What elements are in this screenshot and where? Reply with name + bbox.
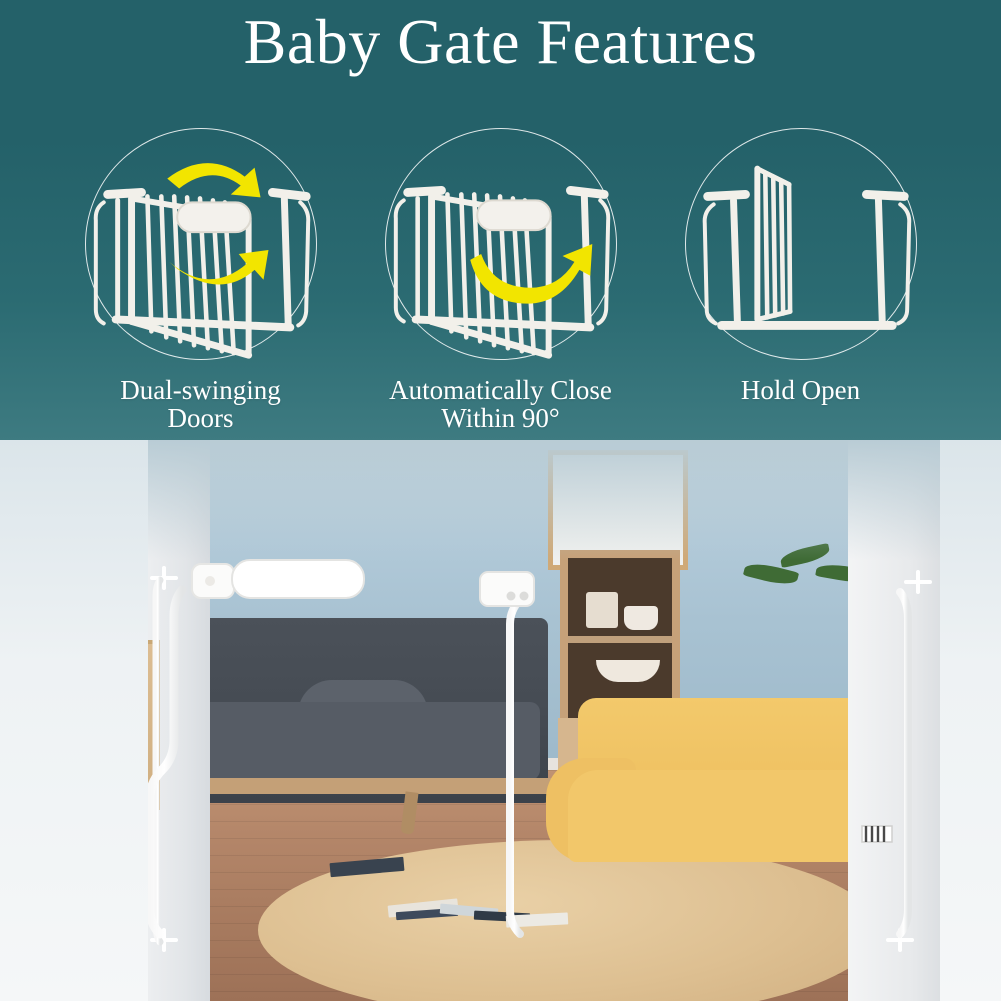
- shelf-divider: [568, 636, 672, 643]
- swing-arrow-top-icon: [167, 163, 260, 197]
- feature-circle-2: [385, 128, 617, 360]
- gate-hold-open-icon: [674, 123, 928, 365]
- feature-circle-3: [685, 128, 917, 360]
- page-title: Baby Gate Features: [0, 8, 1001, 75]
- feature-caption-3: Hold Open: [741, 376, 860, 404]
- feature-hold-open: Hold Open: [676, 128, 926, 404]
- grey-sofa-seat: [176, 702, 540, 780]
- feature-automatically-close: Automatically Close Within 90°: [376, 128, 626, 432]
- feature-row: Dual-swinging Doors: [0, 128, 1001, 432]
- gate-handle-icon: [177, 202, 250, 232]
- sideboard-cabinet: [148, 640, 160, 810]
- books-on-rug: [388, 892, 568, 926]
- feature-caption-2: Automatically Close Within 90°: [389, 376, 612, 432]
- grey-sofa-base: [166, 778, 556, 794]
- wall-right: [848, 440, 940, 1001]
- feature-dual-swinging-doors: Dual-swinging Doors: [76, 128, 326, 432]
- shelf-decor-item: [624, 606, 658, 630]
- gate-auto-close-icon: [374, 123, 628, 365]
- gate-dual-swing-icon: [74, 123, 328, 365]
- photo-margin-left: [0, 440, 148, 1001]
- photo-margin-right: [940, 440, 1001, 1001]
- feature-circle-1: [85, 128, 317, 360]
- feature-caption-1: Dual-swinging Doors: [120, 376, 280, 432]
- shelf-decor-item: [586, 592, 618, 628]
- product-photo: [148, 440, 940, 1001]
- infographic-page: Baby Gate Features: [0, 0, 1001, 1001]
- gate-handle-icon: [477, 200, 550, 230]
